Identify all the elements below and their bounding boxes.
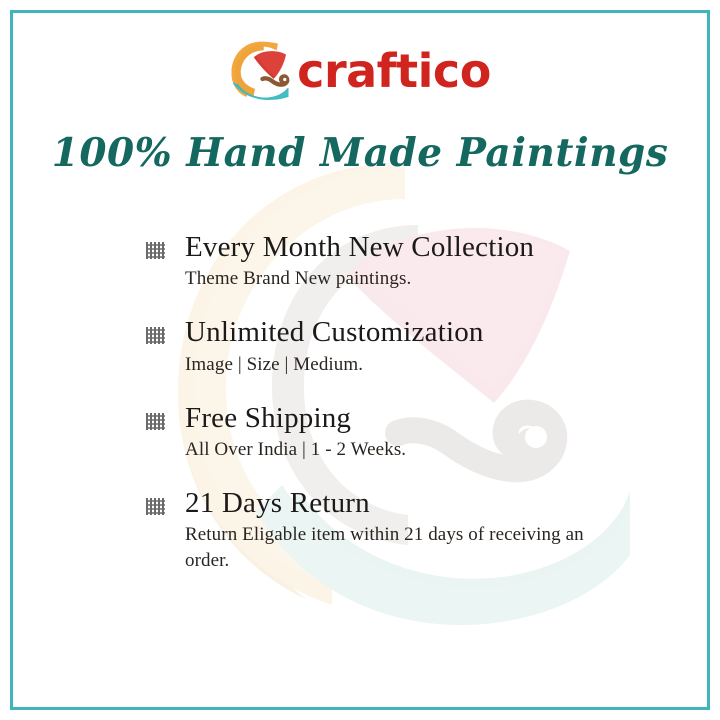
list-item-subtitle: Image | Size | Medium. (185, 352, 616, 377)
list-item-body: 21 Days Return Return Eligable item with… (185, 488, 616, 572)
list-item-body: Unlimited Customization Image | Size | M… (185, 317, 616, 376)
list-item-subtitle: Return Eligable item within 21 days of r… (185, 522, 616, 572)
list-item-title: 21 Days Return (185, 488, 616, 519)
promo-poster: craftico 100% Hand Made Paintings Every … (0, 0, 720, 720)
woven-grid-bullet-icon (146, 327, 165, 344)
list-item: 21 Days Return Return Eligable item with… (146, 488, 616, 572)
brand-wordmark: craftico (297, 48, 491, 94)
page-title: 100% Hand Made Paintings (0, 130, 720, 176)
woven-grid-bullet-icon (146, 413, 165, 430)
list-item-body: Every Month New Collection Theme Brand N… (185, 232, 616, 291)
list-item-title: Free Shipping (185, 403, 616, 434)
craftico-c-brush-logo-icon (229, 38, 291, 100)
list-item: Unlimited Customization Image | Size | M… (146, 317, 616, 376)
woven-grid-bullet-icon (146, 498, 165, 515)
list-item-title: Every Month New Collection (185, 232, 616, 263)
list-item: Every Month New Collection Theme Brand N… (146, 232, 616, 291)
list-item-title: Unlimited Customization (185, 317, 616, 348)
list-item-subtitle: Theme Brand New paintings. (185, 266, 616, 291)
woven-grid-bullet-icon (146, 242, 165, 259)
list-item-subtitle: All Over India | 1 - 2 Weeks. (185, 437, 616, 462)
list-item: Free Shipping All Over India | 1 - 2 Wee… (146, 403, 616, 462)
feature-list: Every Month New Collection Theme Brand N… (146, 232, 616, 573)
brand-logo-lockup: craftico (0, 34, 720, 104)
list-item-body: Free Shipping All Over India | 1 - 2 Wee… (185, 403, 616, 462)
